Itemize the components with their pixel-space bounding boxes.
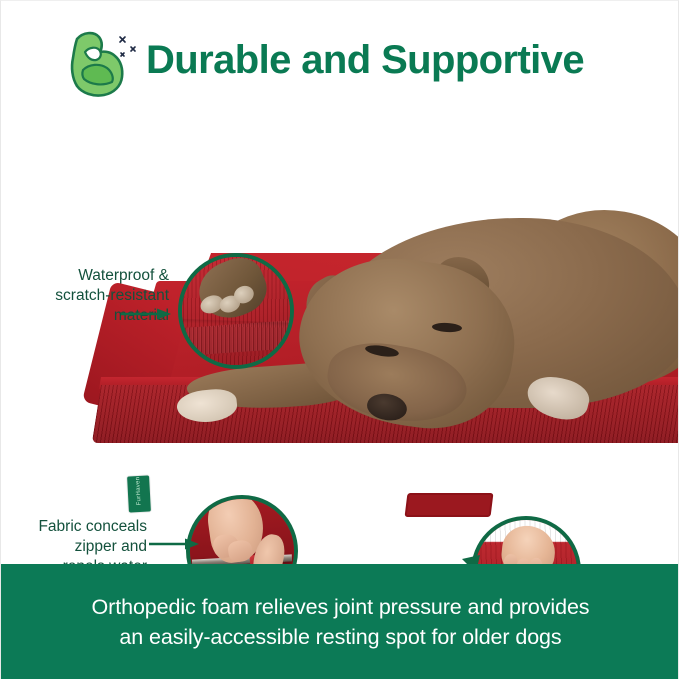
inset-concealed-zipper	[186, 495, 298, 564]
banner-line: Orthopedic foam relieves joint pressure …	[92, 592, 590, 622]
dog-front-paw	[175, 387, 238, 425]
callout-line: Fabric conceals	[7, 517, 147, 537]
callout-fabric-zipper-text: Fabric conceals zipper and repels water	[7, 517, 147, 564]
bottom-banner: Orthopedic foam relieves joint pressure …	[1, 564, 679, 679]
fabric-rib-texture	[178, 320, 294, 358]
flexed-biceps-icon	[63, 23, 145, 101]
callout-line: repels water	[7, 557, 147, 564]
inset-built-in-handle	[471, 516, 581, 564]
banner-text: Orthopedic foam relieves joint pressure …	[78, 592, 604, 652]
inset-waterproof-fabric	[178, 253, 294, 369]
callout-line: zipper and	[7, 537, 147, 557]
header: Durable and Supportive	[1, 1, 679, 113]
brand-tag: FurHaven	[127, 475, 151, 512]
bed-built-in-handle	[405, 493, 494, 517]
arrow-up-right-icon	[438, 553, 484, 564]
banner-line: an easily-accessible resting spot for ol…	[92, 622, 590, 652]
hand-finger	[502, 554, 518, 564]
product-infographic: Durable and Supportive FurHaven	[0, 0, 679, 679]
arrow-right-icon	[121, 307, 173, 321]
page-title: Durable and Supportive	[146, 34, 584, 86]
arrow-right-icon	[149, 537, 201, 551]
callout-line: scratch-resistant	[19, 286, 169, 306]
product-photo: FurHaven	[1, 113, 679, 564]
brand-tag-label: FurHaven	[135, 471, 143, 511]
callout-line: Waterproof &	[19, 266, 169, 286]
